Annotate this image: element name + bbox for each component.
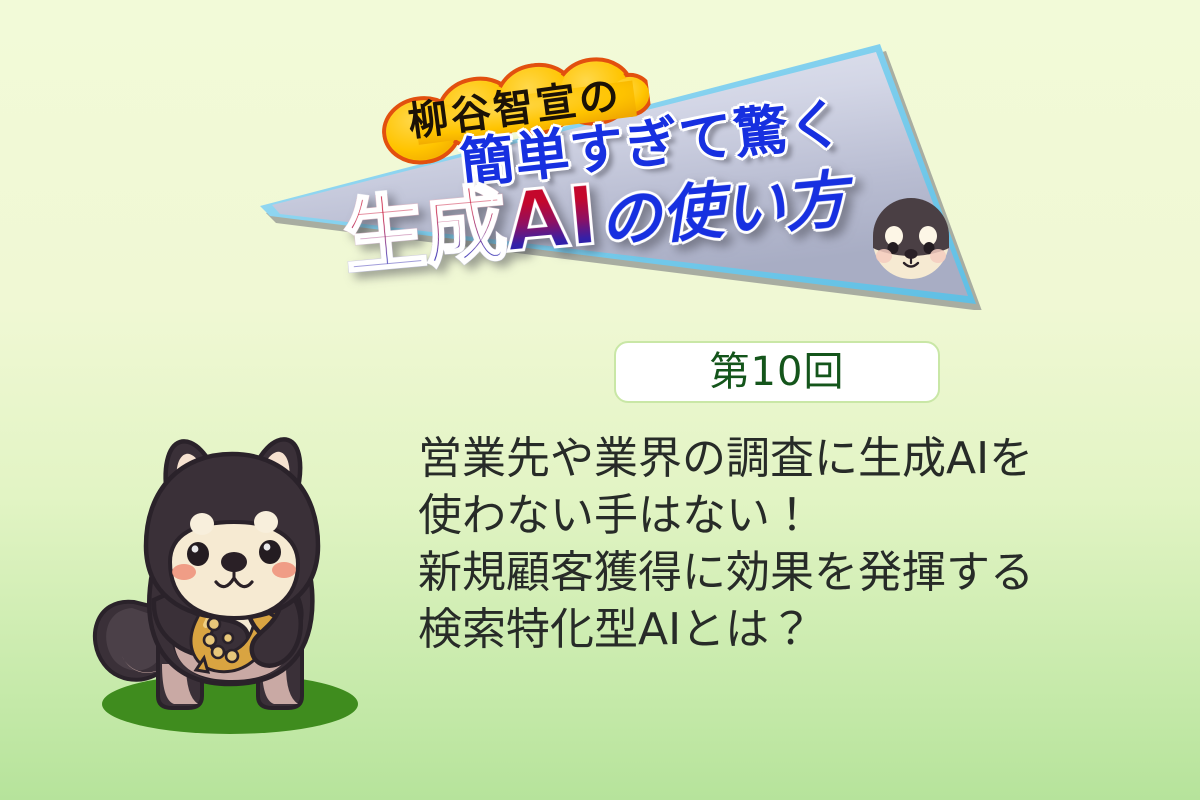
episode-badge-label: 第10回 (710, 352, 845, 392)
headline-line: 営業先や業界の調査に生成AIを (418, 430, 1178, 487)
mascot-illustration (62, 412, 392, 742)
black-shiba-playing-saxophone (62, 412, 392, 742)
headline-line: 新規顧客獲得に効果を発揮する (418, 544, 1178, 601)
headline-block: 営業先や業界の調査に生成AIを 使わない手はない！ 新規顧客獲得に効果を発揮する… (418, 430, 1178, 658)
episode-badge[interactable]: 第10回 (614, 341, 940, 403)
logo-main-title-gradient: 生成AI (340, 175, 600, 280)
headline-line: 検索特化型AIとは？ (418, 601, 1178, 658)
article-banner: 柳谷智宣の 簡単すぎて驚く 生成AI の使い方 第10回 (0, 0, 1200, 800)
series-logo: 柳谷智宣の 簡単すぎて驚く 生成AI の使い方 (232, 28, 992, 310)
shiba-dog-face-icon (868, 196, 954, 282)
dog-head (146, 439, 318, 618)
headline-line: 使わない手はない！ (418, 487, 1178, 544)
